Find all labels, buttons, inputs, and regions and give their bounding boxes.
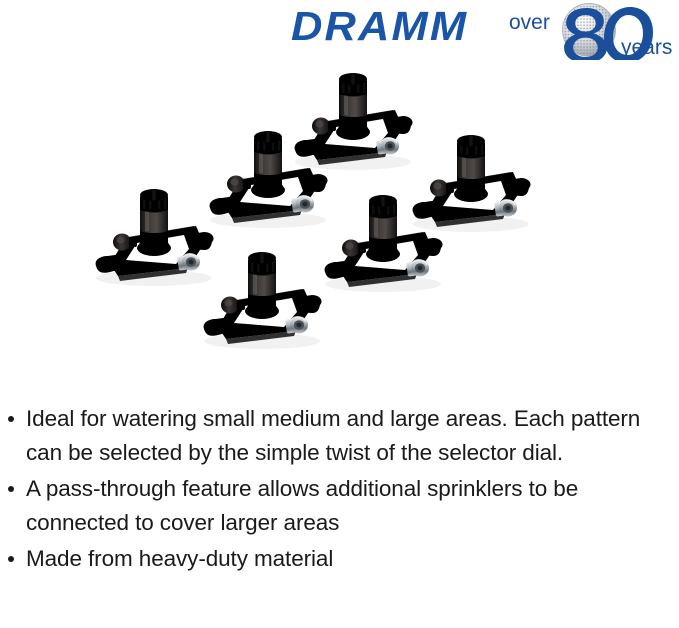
bullet-icon — [8, 486, 14, 492]
feature-bullet-item: Ideal for watering small medium and larg… — [0, 402, 679, 470]
brand-header: DRAMM — [0, 0, 679, 62]
product-photo: .sp-shadow { fill: #000; opacity: 0.055;… — [0, 58, 679, 390]
bullet-icon — [8, 416, 14, 422]
feature-bullet-item: A pass-through feature allows additional… — [0, 472, 679, 540]
sprinkler-purple — [295, 73, 413, 170]
sprinkler-red — [204, 252, 322, 349]
anniversary-years-text: years — [621, 36, 672, 59]
feature-text: A pass-through feature allows additional… — [26, 476, 578, 535]
bullet-icon — [8, 556, 14, 562]
sprinkler-green — [96, 189, 214, 286]
sprinkler-yellow — [413, 135, 531, 232]
brand-wordmark: DRAMM — [291, 4, 468, 48]
feature-bullet-item: Made from heavy-duty material — [0, 542, 679, 576]
sprinkler-group-graphic: .sp-shadow { fill: #000; opacity: 0.055;… — [0, 58, 679, 390]
anniversary-badge: over years — [505, 2, 677, 60]
anniversary-badge-graphic: over years — [505, 2, 677, 60]
feature-text: Ideal for watering small medium and larg… — [26, 406, 640, 465]
feature-text: Made from heavy-duty material — [26, 546, 333, 571]
anniversary-over-text: over — [509, 11, 550, 34]
feature-bullet-list: Ideal for watering small medium and larg… — [0, 402, 679, 578]
